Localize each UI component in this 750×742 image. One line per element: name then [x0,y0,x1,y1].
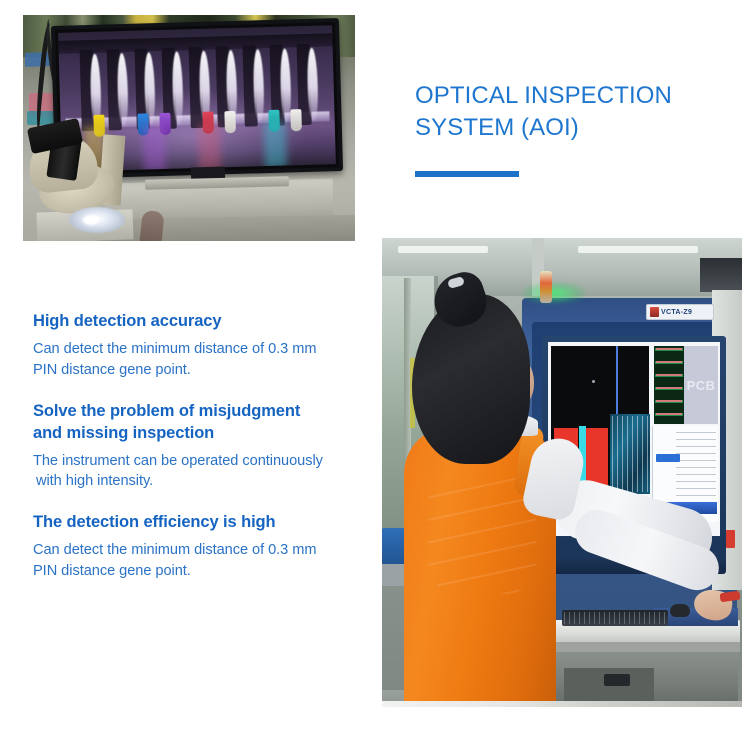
page-title: OPTICAL INSPECTION SYSTEM (AOI) [415,80,725,143]
nozzle-streak-group [75,48,324,127]
microscope-light-core [83,215,99,225]
feature-body-line-2: PIN distance gene point. [33,362,191,378]
feature-list: High detection accuracy Can detect the m… [33,311,373,582]
page-title-line-1: OPTICAL INSPECTION [415,82,672,109]
monitor-screen [58,25,336,172]
pcb-watermark-text: PCB [687,378,716,393]
feature-body-line-1: Can detect the minimum distance of 0.3 m… [33,341,316,357]
feature-item: Solve the problem of misjudgment and mis… [33,401,373,493]
marketing-banner: OPTICAL INSPECTION SYSTEM (AOI) High det… [0,0,750,742]
brand-mark-icon [650,307,659,317]
signal-tower-lamp [540,271,552,303]
machine-model-label: VCTA-Z9 [646,304,714,320]
feature-heading: The detection efficiency is high [33,512,373,534]
keyboard-keys[interactable] [564,612,666,624]
pcb-thumbnail-pads [656,348,682,422]
page-title-line-2: SYSTEM (AOI) [415,114,579,141]
pcb-watermark: PCB [684,346,718,424]
feature-heading-line-1: Solve the problem of misjudgment [33,402,300,420]
feature-body-line-1: The instrument can be operated continuou… [33,453,323,469]
photo-operator-aoi-machine: VCTA-Z9 PCB ●●● [382,238,742,707]
feature-body-line-1: Can detect the minimum distance of 0.3 m… [33,542,316,558]
work-table-lower [97,215,355,241]
feature-item: The detection efficiency is high Can det… [33,512,373,582]
mouse[interactable] [670,604,690,617]
feature-body: Can detect the minimum distance of 0.3 m… [33,339,373,381]
feature-heading: High detection accuracy [33,311,373,333]
title-accent-rule [415,171,519,177]
feature-body: Can detect the minimum distance of 0.3 m… [33,540,373,582]
desk-edge [550,642,740,652]
feature-body-line-2: PIN distance gene point. [33,563,191,579]
machine-lower-component [604,674,630,686]
feature-body: The instrument can be operated continuou… [33,451,373,493]
pcb-trace-lines [612,416,648,492]
inspection-marker-dot [592,380,595,383]
machine-red-sticker [726,530,735,548]
operator-thumb [139,210,164,241]
ceiling-light [578,246,698,253]
feature-heading-line-2: and missing inspection [33,424,214,442]
feature-body-line-2: with high intensity. [33,473,153,489]
software-action-button[interactable] [656,454,680,462]
machine-model-text: VCTA-Z9 [661,309,692,316]
photo-microscope-monitor [23,15,355,241]
feature-heading: Solve the problem of misjudgment and mis… [33,401,373,445]
machine-top-module [700,258,742,292]
feature-item: High detection accuracy Can detect the m… [33,311,373,381]
signal-tower-glow [522,282,586,304]
photo-bottom-edge [382,701,742,707]
software-list-rows [676,432,716,512]
ceiling-light [398,246,488,253]
